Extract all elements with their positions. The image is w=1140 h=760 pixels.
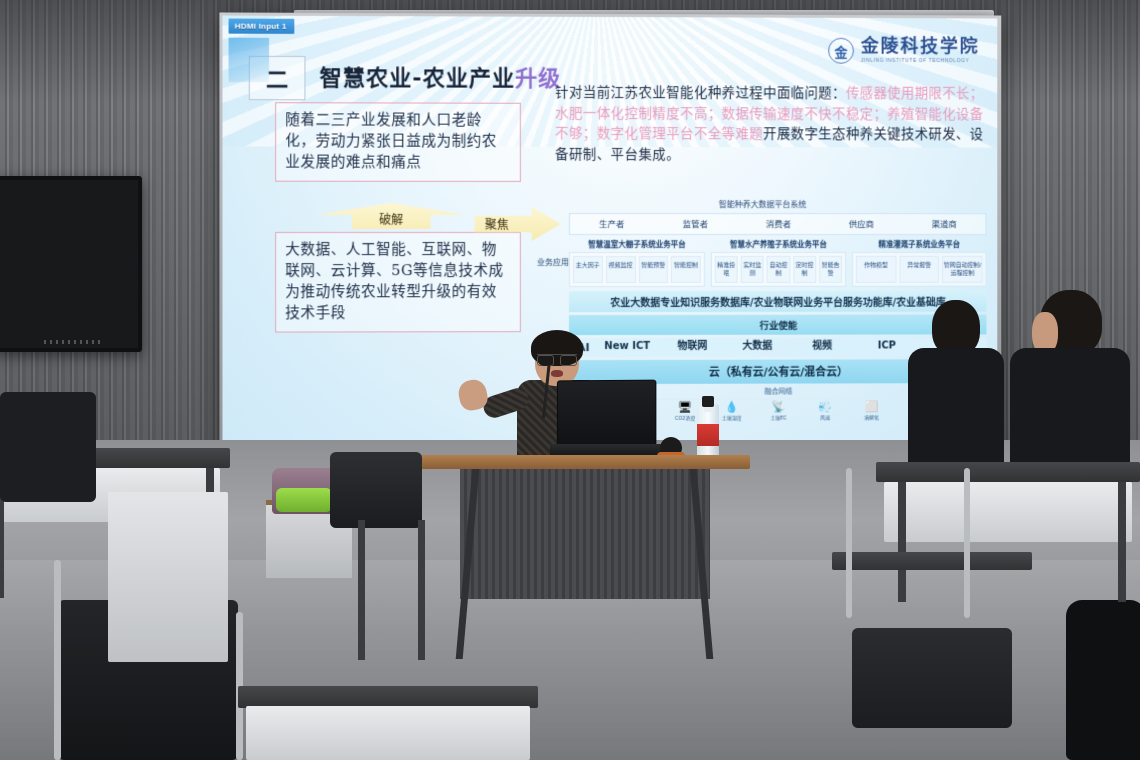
chair-back-right [852, 628, 1012, 728]
subplatform-chip: 精准投喂 [715, 256, 738, 283]
diagram-roles-row: 生产者 监管者 消费者 供应商 渠道商 [569, 213, 986, 235]
subplatform-group: 主大因子 视频监控 智能预警 智能控制 [569, 252, 705, 287]
business-application-row: 业务应用 智慧温室大棚子系统业务平台 智慧水产养殖子系统业务平台 精准灌溉子系统… [537, 239, 987, 287]
student-far-right [1066, 600, 1140, 760]
laptop-screen [557, 380, 656, 447]
subplatform-chip: 异常报警 [899, 256, 939, 283]
subplatform-chip: 作物模型 [856, 256, 896, 283]
subplatform-chip: 管网自动控制/远程控制 [942, 256, 982, 283]
institution-name-en: JINLING INSTITUTE OF TECHNOLOGY [861, 58, 980, 64]
desk-leg [1118, 482, 1126, 602]
chair-frame [54, 560, 61, 760]
institution-logo: 金 金陵科技学院 JINLING INSTITUTE OF TECHNOLOGY [828, 38, 979, 64]
subplatform-title: 智慧水产养殖子系统业务平台 [711, 239, 846, 250]
chair-leg [418, 520, 425, 660]
hdmi-badge-tail [229, 38, 269, 82]
chair-back-left [0, 392, 96, 502]
subplatform-chip: 实时监测 [741, 256, 764, 283]
subplatform-chip: 智能告警 [819, 256, 842, 283]
subplatform-title: 智慧温室大棚子系统业务平台 [569, 239, 705, 250]
role-cell: 渠道商 [903, 218, 986, 230]
slide-title: 智慧农业-农业产业升级 [320, 60, 562, 93]
pedestal-cabinet-left [108, 492, 228, 662]
sensor-icon: 💨 [803, 402, 848, 413]
tech-cell: 大数据 [726, 342, 789, 353]
chair-frame [846, 468, 852, 618]
subplatform-group: 作物模型 异常报警 管网自动控制/远程控制 [852, 252, 987, 287]
laptop[interactable] [550, 380, 660, 466]
bottle-label [697, 424, 719, 446]
subplatform-titles: 智慧温室大棚子系统业务平台 智慧水产养殖子系统业务平台 精准灌溉子系统业务平台 [569, 239, 986, 250]
diagram-title: 智能种养大数据平台系统 [537, 199, 987, 210]
subplatform-chip: 主大因子 [573, 256, 603, 283]
podium-surface [420, 455, 750, 469]
role-cell: 供应商 [820, 218, 903, 230]
classroom-scene: HDMI Input 1 二 智慧农业-农业产业升级 金 金陵科技学院 JINL… [0, 0, 1140, 760]
arrow-up-breakthrough: 破解 [316, 203, 467, 229]
tech-cell: 视频 [791, 342, 854, 353]
bottle-cap [702, 396, 714, 407]
logo-icon: 金 [828, 38, 854, 64]
podium [420, 455, 750, 670]
slide-title-main: 智慧农业-农业产业 [320, 66, 515, 92]
water-bottle [697, 390, 719, 462]
arrow-right-label: 聚焦 [485, 215, 509, 232]
chair-back-center [330, 452, 422, 528]
green-items [276, 488, 332, 512]
sensor-item: 📡土壤EC [756, 402, 801, 421]
subplatform-chip: 智能控制 [671, 256, 701, 283]
institution-name-cn: 金陵科技学院 [861, 38, 980, 56]
subplatform-group: 精准投喂 实时监测 自动控制 定时控制 智能告警 [711, 252, 846, 287]
subplatform-chip: 自动控制 [767, 256, 790, 283]
microphone-icon [538, 356, 552, 366]
sensor-icon: ⬜ [849, 402, 893, 413]
subplatform-chip: 智能预警 [638, 256, 668, 283]
tech-cell: 物联网 [661, 342, 724, 353]
row-label-business: 业务应用 [537, 239, 569, 287]
subplatform-groups: 主大因子 视频监控 智能预警 智能控制 精准投喂 实时监测 自动控制 定时控制 … [569, 252, 986, 287]
slide-paragraph: 针对当前江苏农业智能化种养过程中面临问题：传感器使用期限不长；水肥一体化控制精度… [555, 83, 985, 166]
sensor-label: 土壤EC [756, 414, 801, 421]
chair-leg [358, 520, 365, 660]
role-cell: 监管者 [654, 218, 737, 230]
student-body [1066, 600, 1140, 760]
podium-panel [460, 469, 710, 599]
role-cell: 生产者 [570, 218, 654, 230]
desk-leg [898, 482, 906, 602]
desk-left-front-panel [246, 706, 530, 760]
sensor-item: ⬜溶解氧 [849, 402, 893, 421]
side-monitor-controls [44, 340, 104, 344]
sensor-label: 风速 [803, 414, 848, 421]
hdmi-input-badge: HDMI Input 1 [229, 19, 295, 34]
presenter-mouth [551, 370, 563, 377]
sensor-label: 溶解氧 [849, 414, 893, 421]
desk-right-2 [832, 552, 1032, 570]
paragraph-lead: 针对当前江苏农业智能化种养过程中面临问题： [555, 85, 846, 102]
role-cell: 消费者 [737, 218, 820, 230]
chair-frame [964, 468, 970, 618]
desk-right-1 [876, 462, 1140, 482]
subplatform-chip: 定时控制 [793, 256, 816, 283]
desk-right-1-panel [884, 482, 1132, 542]
slide-text-box-1: 随着二三产业发展和人口老龄化，劳动力紧张日益成为制约农业发展的难点和痛点 [275, 102, 521, 182]
business-application-body: 智慧温室大棚子系统业务平台 智慧水产养殖子系统业务平台 精准灌溉子系统业务平台 … [569, 239, 986, 287]
subplatform-title: 精准灌溉子系统业务平台 [852, 239, 987, 250]
subplatform-chip: 视频监控 [606, 256, 636, 283]
sensor-item: 💨风速 [803, 402, 848, 421]
sensor-icon: 📡 [756, 402, 801, 413]
desk-left-front [238, 686, 538, 708]
slide-text-box-2: 大数据、人工智能、互联网、物联网、云计算、5G等信息技术成为推动传统农业转型升级… [275, 232, 521, 333]
side-monitor [0, 176, 142, 352]
arrow-up-label: 破解 [379, 211, 403, 229]
